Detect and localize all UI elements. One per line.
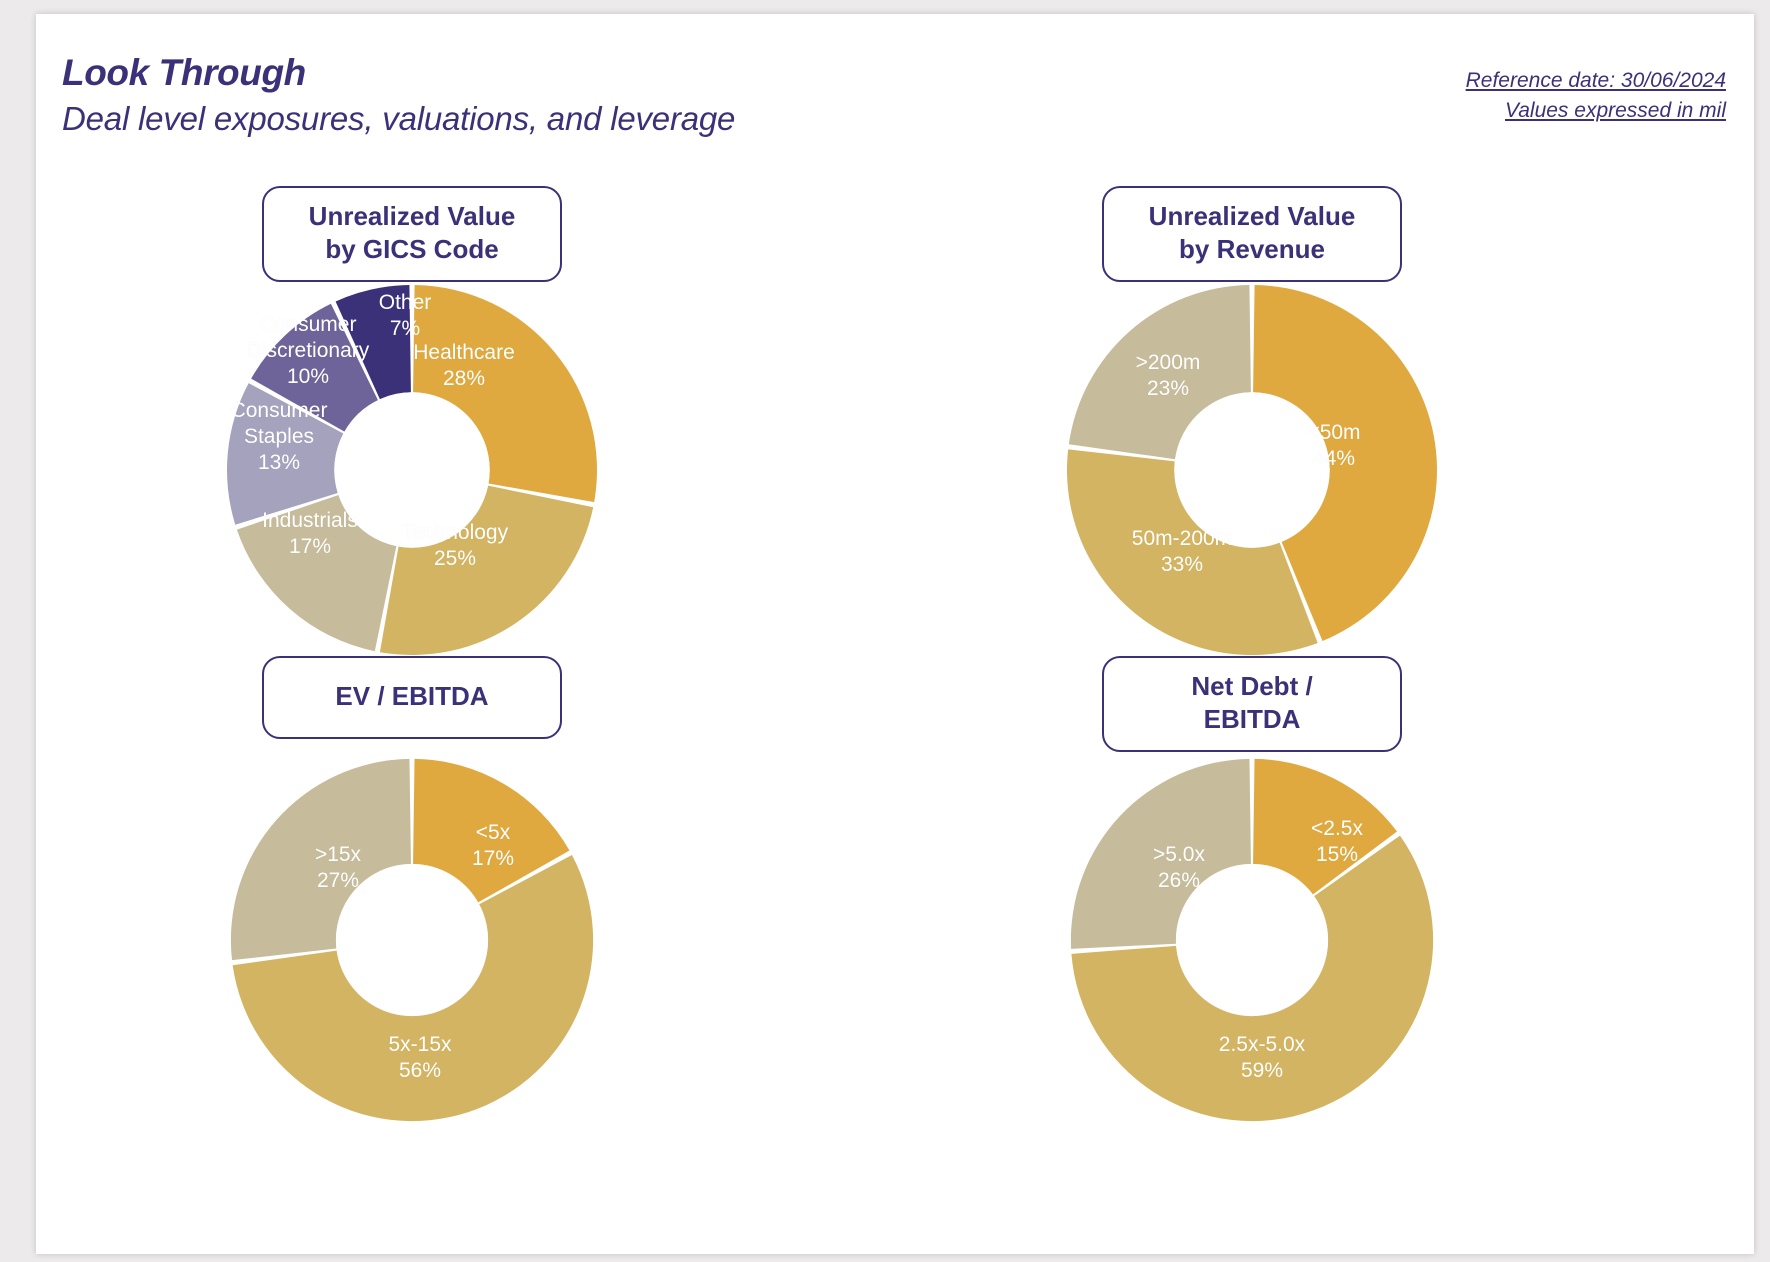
chart-panel-unrealized-value-by-gics-code: Unrealized Value by GICS Code Healthcare… — [52, 172, 772, 692]
chart-panel-ev-ebitda: EV / EBITDA <5x 17% >15x 27% 5x-15x 56% — [52, 642, 772, 1162]
chart-title-box-revenue: Unrealized Value by Revenue — [1102, 186, 1402, 282]
chart-panel-net-debt-ebitda: Net Debt / EBITDA <2.5x 15% >5.0x 26% 2.… — [892, 642, 1612, 1162]
donut-chart-gics: Healthcare 28% Technology 25% Industrial… — [222, 280, 602, 660]
chart-title-box-ev-ebitda: EV / EBITDA — [262, 656, 562, 739]
reference-date-label: Reference date: 30/06/2024 — [1466, 66, 1726, 96]
values-unit-label: Values expressed in mil — [1466, 96, 1726, 126]
donut-hole — [336, 864, 488, 1016]
chart-title-line: by Revenue — [1130, 233, 1374, 266]
page-title: Look Through — [62, 52, 306, 94]
donut-svg-revenue — [1062, 280, 1442, 660]
donut-hole — [334, 392, 489, 547]
header-meta: Reference date: 30/06/2024 Values expres… — [1466, 66, 1726, 126]
chart-title-line: by GICS Code — [290, 233, 534, 266]
chart-title-line: EBITDA — [1130, 703, 1374, 736]
page-subtitle: Deal level exposures, valuations, and le… — [62, 100, 735, 138]
slide-page: Look Through Deal level exposures, valua… — [0, 0, 1770, 1262]
donut-chart-ev-ebitda: <5x 17% >15x 27% 5x-15x 56% — [226, 754, 598, 1126]
chart-title-box-net-debt-ebitda: Net Debt / EBITDA — [1102, 656, 1402, 752]
chart-title-line: EV / EBITDA — [290, 680, 534, 713]
donut-chart-net-debt-ebitda: <2.5x 15% >5.0x 26% 2.5x-5.0x 59% — [1066, 754, 1438, 1126]
chart-title-line: Unrealized Value — [1130, 200, 1374, 233]
donut-hole — [1176, 864, 1328, 1016]
donut-hole — [1174, 392, 1329, 547]
chart-panel-unrealized-value-by-revenue: Unrealized Value by Revenue <50m 44% 50m… — [892, 172, 1612, 692]
slide-canvas: Look Through Deal level exposures, valua… — [36, 14, 1754, 1254]
chart-title-line: Net Debt / — [1130, 670, 1374, 703]
chart-title-line: Unrealized Value — [290, 200, 534, 233]
donut-svg-ev-ebitda — [226, 754, 598, 1126]
chart-title-box-gics: Unrealized Value by GICS Code — [262, 186, 562, 282]
donut-svg-net-debt-ebitda — [1066, 754, 1438, 1126]
donut-chart-revenue: <50m 44% 50m-200m 33% >200m 23% — [1062, 280, 1442, 660]
donut-svg-gics — [222, 280, 602, 660]
